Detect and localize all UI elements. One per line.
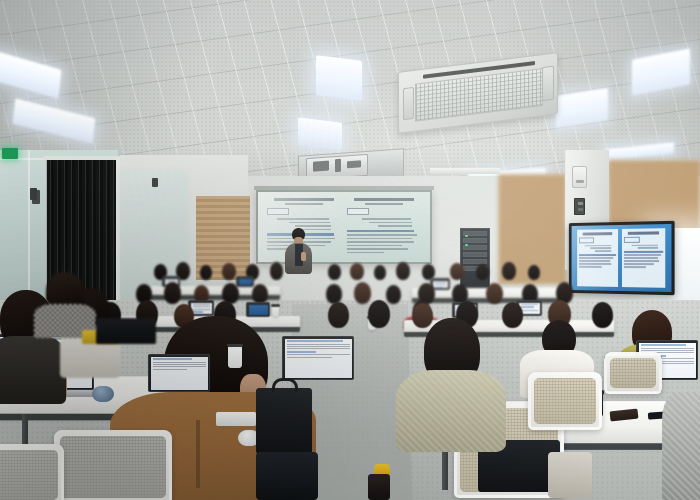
panel-light-center: [298, 117, 342, 150]
coffee-cup-white: [228, 346, 242, 368]
chair[interactable]: [0, 444, 64, 500]
soffit-edge-right: [430, 168, 500, 174]
audience-member-right-edge: [662, 392, 700, 500]
sanitizer-dispenser: [572, 166, 587, 188]
wall-speaker-mid: [152, 178, 158, 187]
rack-status-led: [465, 235, 468, 237]
wall-display-screen: [572, 224, 672, 292]
laptop[interactable]: [148, 354, 210, 394]
slide-column-right: [347, 198, 421, 256]
ac-vane-left: [403, 87, 414, 120]
display-column-left: [577, 229, 618, 287]
slide-title-line: [274, 198, 335, 201]
slide-subtitle-line-right: [365, 203, 403, 205]
chair[interactable]: [54, 430, 172, 500]
coat-on-chair: [256, 452, 318, 500]
bag-floor: [368, 474, 390, 500]
classroom-photo: [0, 0, 700, 500]
chair[interactable]: [528, 372, 602, 430]
audience-member-knit: [396, 318, 506, 448]
slide-title-line-right: [354, 198, 415, 201]
laptop-lid-closed[interactable]: [96, 318, 156, 344]
laptop[interactable]: [282, 336, 354, 382]
rack-status-led-2: [465, 244, 468, 246]
ac-vane-right: [542, 66, 554, 101]
wall-display: [569, 221, 675, 295]
slide-subtitle-line: [285, 203, 323, 205]
exit-sign-icon: [2, 148, 18, 159]
display-column-right: [622, 228, 665, 288]
screen-top-rail: [254, 186, 434, 190]
jacket-seam: [196, 420, 200, 488]
keyboard[interactable]: [216, 412, 256, 426]
knit-sweater: [396, 370, 506, 452]
audience-member-patterned: [34, 272, 96, 334]
slide-field-box-right: [347, 208, 369, 215]
wall-control-panel[interactable]: [574, 198, 585, 215]
laptop-bag: [256, 388, 312, 454]
chair[interactable]: [604, 352, 662, 394]
bag-handle: [272, 378, 298, 392]
bag-secondary: [548, 452, 592, 498]
panel-light-upper-center: [316, 55, 362, 101]
slat-wall-header: [44, 156, 120, 160]
slide-field-box: [267, 208, 289, 215]
wall-speaker-left: [30, 188, 37, 200]
